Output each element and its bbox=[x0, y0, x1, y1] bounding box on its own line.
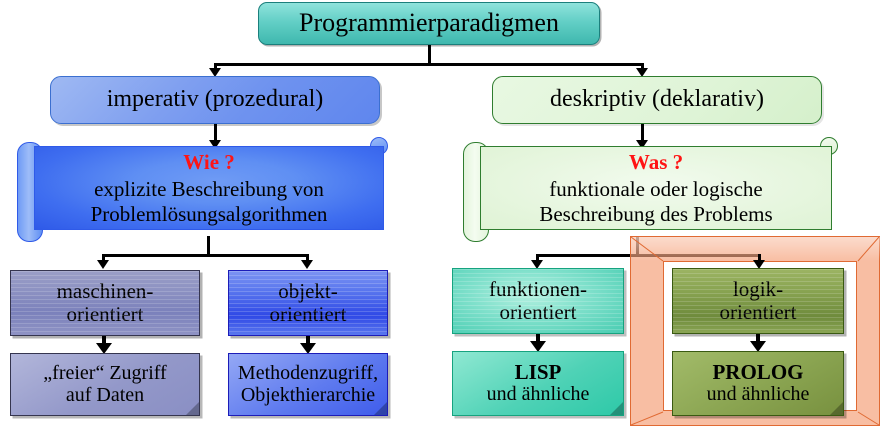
page-fold-icon bbox=[374, 402, 387, 415]
scroll-imperativ-line2: Problemlösungsalgorithmen bbox=[91, 202, 328, 227]
node-funktionen-line2: orientiert bbox=[500, 301, 577, 324]
scroll-deskriptiv-question: Was ? bbox=[629, 150, 683, 175]
node-lisp-subtitle: und ähnliche bbox=[487, 384, 590, 406]
connector-left-bar bbox=[102, 254, 309, 257]
node-objekt-line2: orientiert bbox=[270, 303, 347, 326]
node-imperativ-label: imperativ (prozedural) bbox=[107, 87, 324, 113]
node-funktionen-orientiert[interactable]: funktionen- orientiert bbox=[452, 268, 624, 334]
scroll-imperativ-body: Wie ? explizite Beschreibung von Problem… bbox=[34, 146, 384, 230]
scroll-imperativ[interactable]: Wie ? explizite Beschreibung von Problem… bbox=[12, 133, 390, 243]
arrow-to-maschinen bbox=[97, 260, 109, 269]
node-logik-line1: logik- bbox=[733, 278, 783, 301]
page-fold-icon bbox=[610, 402, 623, 415]
node-methodenzugriff[interactable]: Methodenzugriff, Objekthierarchie bbox=[228, 353, 388, 416]
connector-root-bar bbox=[214, 63, 644, 66]
scroll-deskriptiv-line1: funktionale oder logische bbox=[549, 177, 762, 202]
node-maschinen-line2: orientiert bbox=[67, 303, 144, 326]
node-methoden-line1: Methodenzugriff, bbox=[238, 363, 378, 385]
scroll-deskriptiv-line2: Beschreibung des Problems bbox=[539, 202, 772, 227]
node-maschinen-orientiert[interactable]: maschinen- orientiert bbox=[10, 270, 200, 336]
node-lisp-title: LISP bbox=[515, 361, 562, 384]
node-objekt-orientiert[interactable]: objekt- orientiert bbox=[228, 270, 388, 336]
scroll-deskriptiv-body: Was ? funktionale oder logische Beschrei… bbox=[480, 146, 832, 230]
node-logik-orientiert[interactable]: logik- orientiert bbox=[672, 268, 844, 334]
node-deskriptiv-label: deskriptiv (deklarativ) bbox=[550, 87, 764, 113]
node-root[interactable]: Programmierparadigmen bbox=[258, 2, 600, 45]
node-methoden-line2: Objekthierarchie bbox=[241, 385, 375, 407]
node-root-label: Programmierparadigmen bbox=[299, 9, 559, 37]
scroll-imperativ-line1: explizite Beschreibung von bbox=[94, 177, 324, 202]
scroll-imperativ-question: Wie ? bbox=[183, 150, 235, 175]
node-prolog[interactable]: PROLOG und ähnliche bbox=[672, 351, 844, 416]
node-lisp[interactable]: LISP und ähnliche bbox=[452, 351, 624, 416]
node-freier-zugriff[interactable]: „freier“ Zugriff auf Daten bbox=[10, 353, 200, 416]
node-objekt-line1: objekt- bbox=[278, 280, 337, 303]
node-funktionen-line1: funktionen- bbox=[489, 278, 587, 301]
page-fold-icon bbox=[830, 402, 843, 415]
page-fold-icon bbox=[186, 402, 199, 415]
arrow-to-objekt bbox=[301, 260, 313, 269]
node-freier-line1: „freier“ Zugriff bbox=[43, 363, 166, 385]
node-freier-line2: auf Daten bbox=[66, 385, 144, 407]
diagram-canvas: Programmierparadigmen imperativ (prozedu… bbox=[0, 0, 880, 426]
node-logik-line2: orientiert bbox=[720, 301, 797, 324]
node-maschinen-line1: maschinen- bbox=[57, 280, 154, 303]
scroll-deskriptiv[interactable]: Was ? funktionale oder logische Beschrei… bbox=[458, 133, 840, 243]
node-prolog-subtitle: und ähnliche bbox=[707, 384, 810, 406]
node-prolog-title: PROLOG bbox=[712, 361, 803, 384]
connector-root-stem bbox=[428, 45, 431, 65]
node-deskriptiv[interactable]: deskriptiv (deklarativ) bbox=[492, 76, 822, 124]
node-imperativ[interactable]: imperativ (prozedural) bbox=[50, 76, 380, 124]
